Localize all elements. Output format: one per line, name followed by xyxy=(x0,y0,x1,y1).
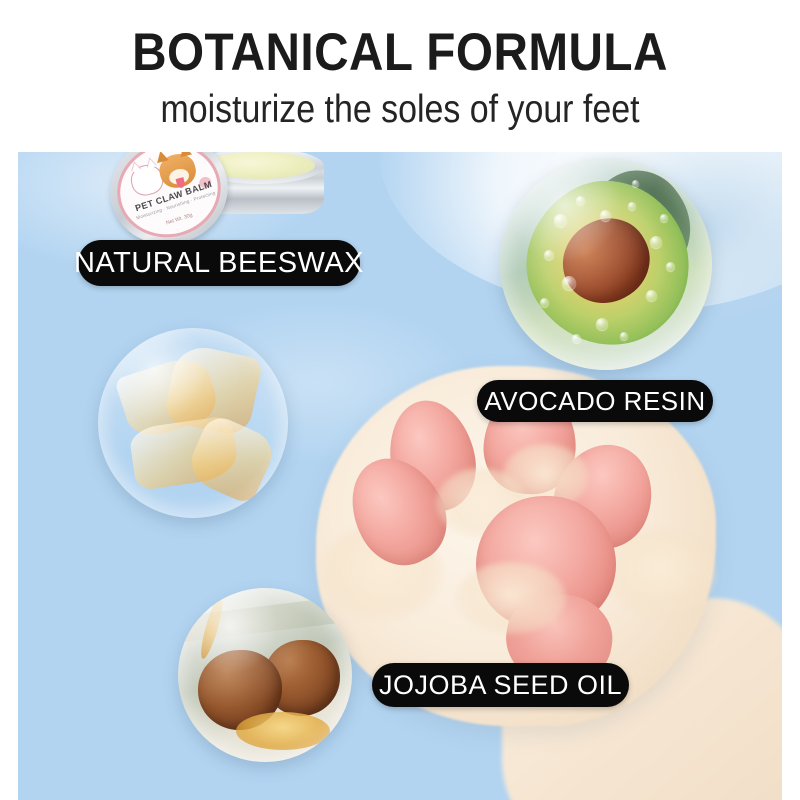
page-title: BOTANICAL FORMULA xyxy=(40,26,760,79)
ingredient-label-beeswax: NATURAL BEESWAX xyxy=(78,240,360,286)
tin-lid-label: PET CLAW BALM Moisturizing · Nourishing … xyxy=(107,152,231,248)
oil-pool xyxy=(236,712,330,750)
product-tin: PET CLAW BALM Moisturizing · Nourishing … xyxy=(110,152,320,248)
ingredient-label-jojoba: JOJOBA SEED OIL xyxy=(372,663,629,707)
product-photo-panel: PET CLAW BALM Moisturizing · Nourishing … xyxy=(18,152,782,800)
ingredient-sphere-jojoba xyxy=(178,588,352,762)
poster-header: BOTANICAL FORMULA moisturize the soles o… xyxy=(0,0,800,152)
page-subtitle: moisturize the soles of your feet xyxy=(52,90,748,129)
ingredient-sphere-beeswax xyxy=(98,328,288,518)
ingredient-label-avocado: AVOCADO RESIN xyxy=(477,380,713,422)
ingredient-sphere-avocado xyxy=(500,158,712,370)
fur-tuft xyxy=(456,562,566,634)
product-marketing-poster: BOTANICAL FORMULA moisturize the soles o… xyxy=(0,0,800,800)
